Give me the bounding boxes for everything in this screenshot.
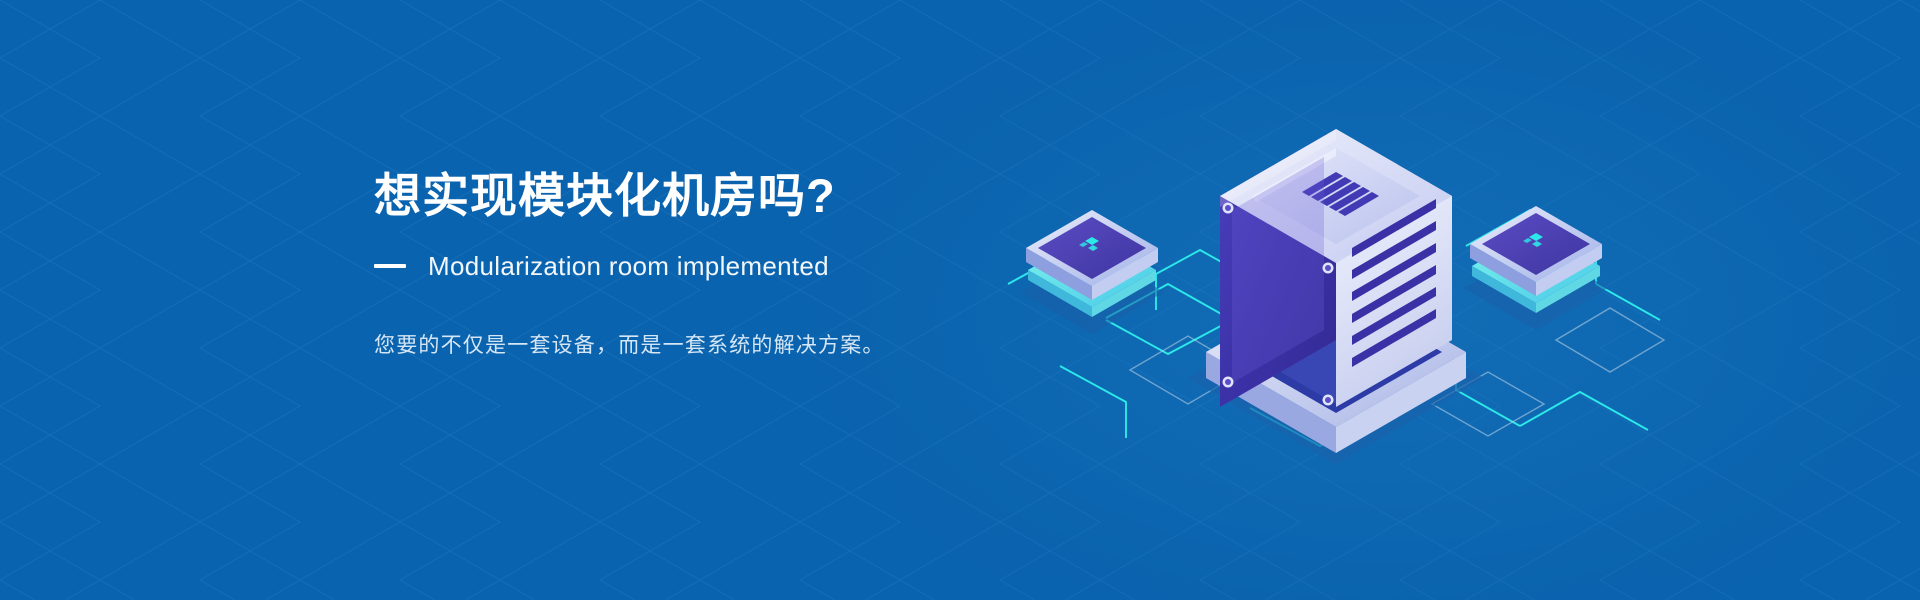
page-subtitle: Modularization room implemented [428, 250, 829, 282]
dash-marker-icon [374, 264, 406, 268]
isometric-datacenter-icon [1000, 78, 1700, 498]
chip-module-left [1020, 210, 1164, 334]
hero-banner: 想实现模块化机房吗? Modularization room implement… [0, 0, 1920, 600]
chip-module-right [1464, 206, 1608, 330]
hero-illustration [1000, 78, 1700, 498]
